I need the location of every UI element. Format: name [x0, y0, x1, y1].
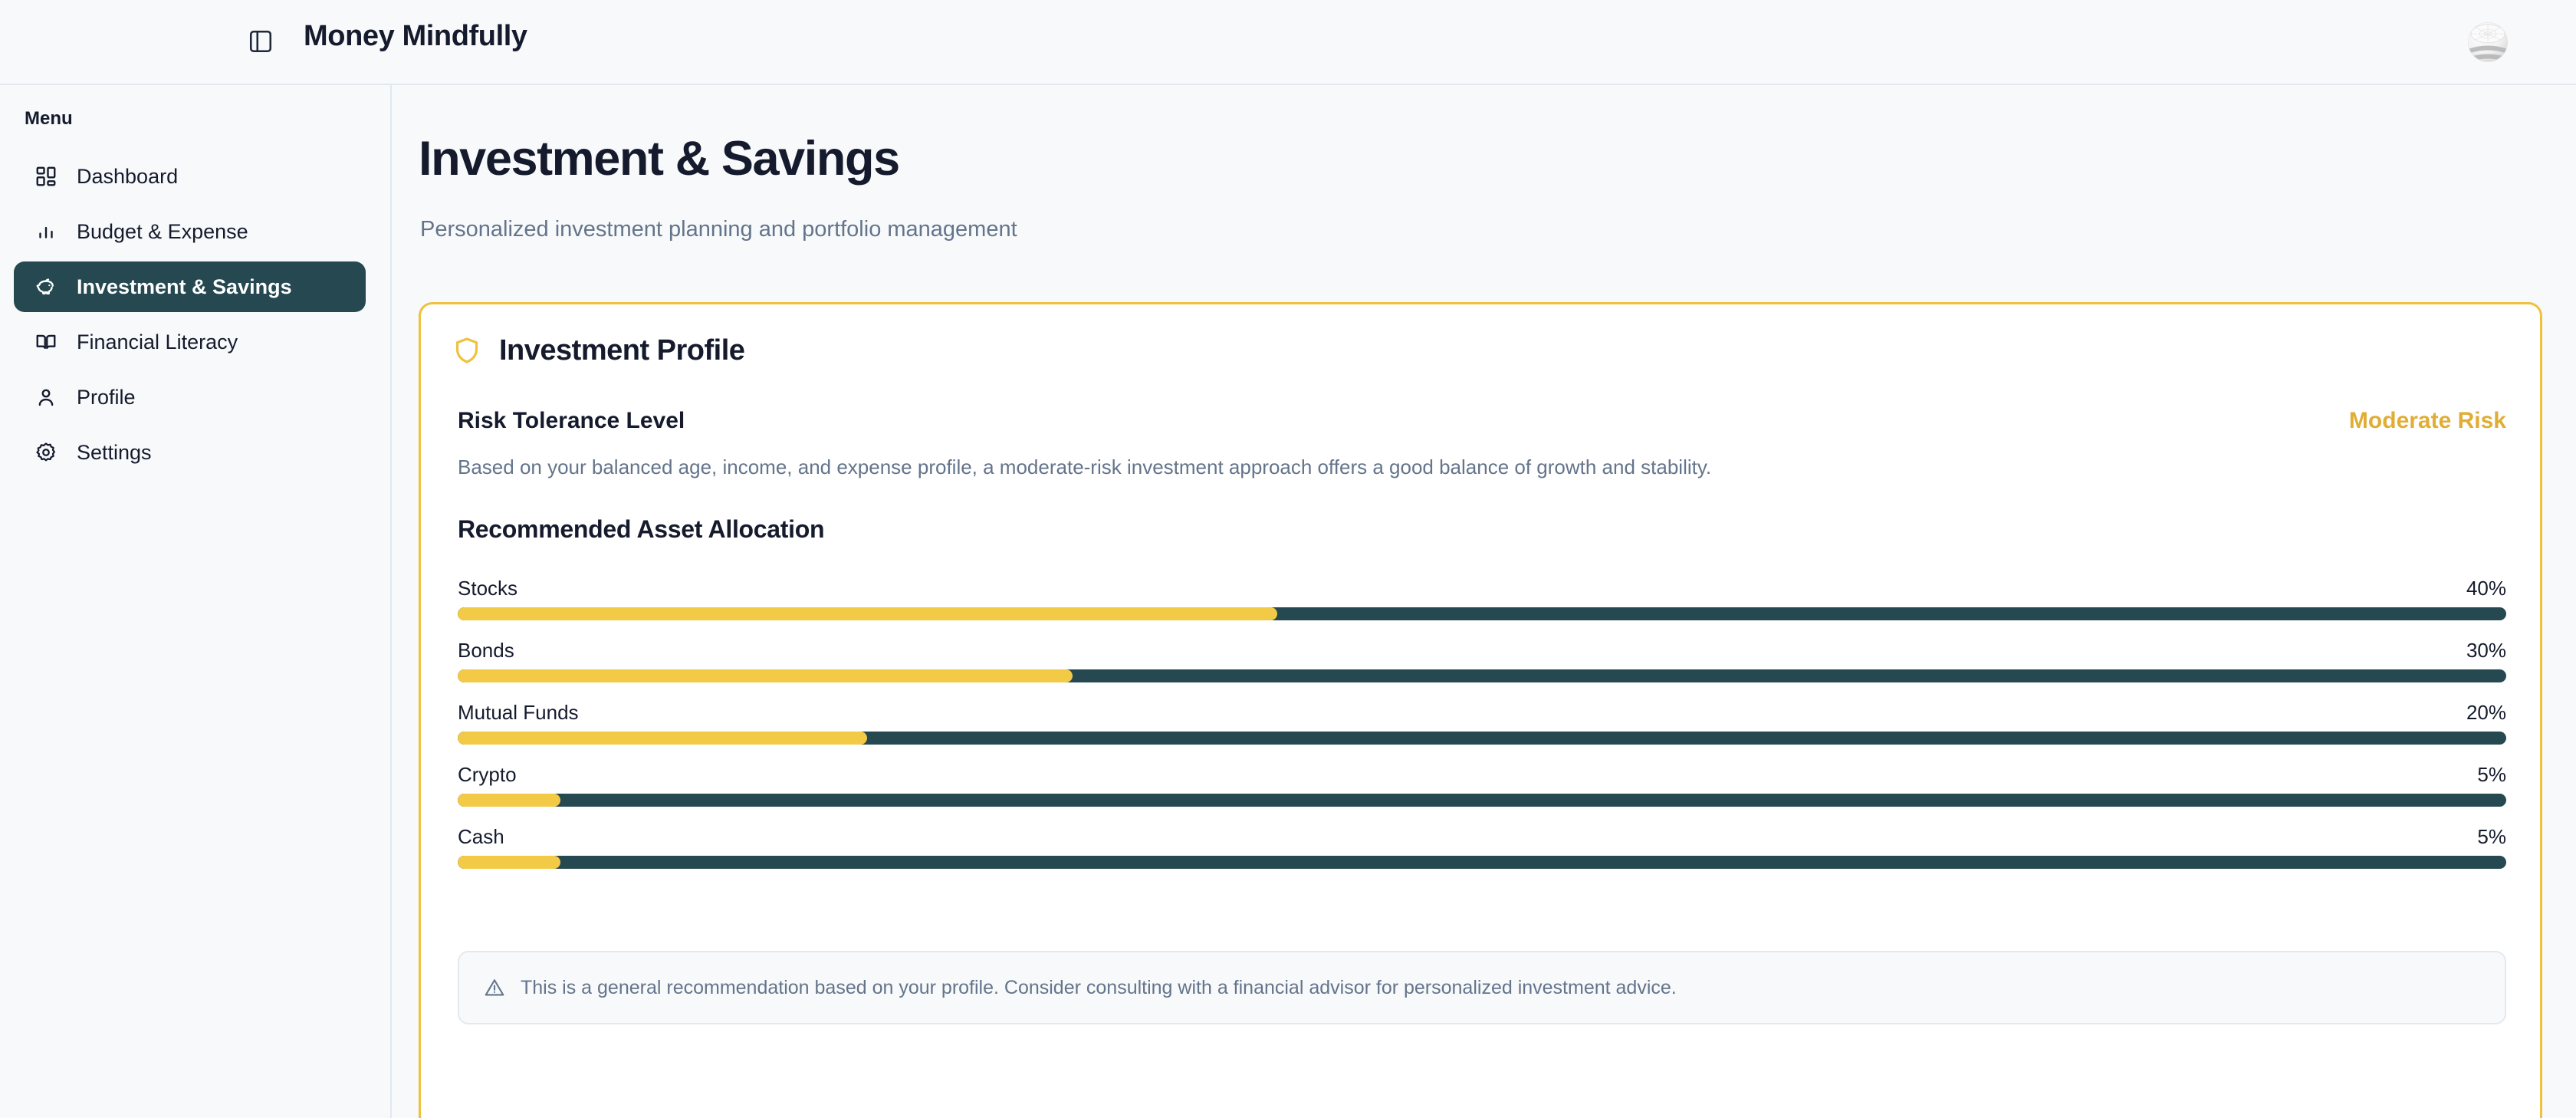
allocation-row: Crypto 5%: [458, 763, 2506, 807]
main-content: Investment & Savings Personalized invest…: [393, 85, 2576, 1118]
allocation-progress-fill: [458, 607, 1277, 620]
sidebar-toggle-button[interactable]: [244, 26, 278, 60]
sidebar-item-label: Profile: [77, 386, 136, 409]
disclaimer-text: This is a general recommendation based o…: [521, 977, 1677, 999]
allocation-row: Mutual Funds 20%: [458, 701, 2506, 745]
allocation-progress-bar[interactable]: [458, 856, 2506, 869]
allocation-name: Bonds: [458, 639, 514, 663]
user-icon: [32, 383, 60, 411]
sidebar-item-financial-literacy[interactable]: Financial Literacy: [14, 317, 366, 367]
allocation-row: Stocks 40%: [458, 577, 2506, 620]
allocation-percent: 30%: [2466, 639, 2506, 663]
allocation-name: Stocks: [458, 577, 517, 600]
sidebar-item-settings[interactable]: Settings: [14, 427, 366, 478]
sidebar: Menu Dashboard Budget & Expense: [0, 85, 392, 1118]
allocation-name: Mutual Funds: [458, 701, 579, 725]
allocation-name: Cash: [458, 825, 504, 849]
allocation-progress-fill: [458, 669, 1073, 682]
allocation-row: Cash 5%: [458, 825, 2506, 869]
sidebar-item-investment-savings[interactable]: Investment & Savings: [14, 261, 366, 312]
card-header: Investment Profile: [450, 334, 744, 367]
allocation-progress-fill: [458, 794, 560, 807]
card-title: Investment Profile: [499, 334, 744, 367]
allocation-row: Bonds 30%: [458, 639, 2506, 682]
allocation-progress-bar[interactable]: [458, 794, 2506, 807]
allocation-section-title: Recommended Asset Allocation: [458, 515, 824, 544]
gear-icon: [32, 439, 60, 466]
sidebar-item-label: Dashboard: [77, 165, 178, 189]
page-subtitle: Personalized investment planning and por…: [420, 217, 1017, 242]
avatar[interactable]: [2461, 15, 2515, 69]
sidebar-item-label: Budget & Expense: [77, 220, 248, 244]
shield-icon: [450, 334, 484, 367]
sidebar-item-profile[interactable]: Profile: [14, 372, 366, 423]
open-book-icon: [32, 328, 60, 356]
allocation-progress-bar[interactable]: [458, 607, 2506, 620]
allocation-percent: 40%: [2466, 577, 2506, 600]
app-header: Money Mindfully: [0, 0, 2576, 85]
allocation-progress-bar[interactable]: [458, 669, 2506, 682]
risk-tolerance-label: Risk Tolerance Level: [458, 408, 685, 434]
grid-icon: [32, 163, 60, 190]
risk-tolerance-row: Risk Tolerance Level Moderate Risk: [458, 408, 2506, 434]
warning-triangle-icon: [482, 975, 507, 1000]
page-title: Investment & Savings: [419, 131, 899, 186]
piggy-bank-icon: [32, 273, 60, 301]
allocation-name: Crypto: [458, 763, 517, 787]
allocation-progress-fill: [458, 856, 560, 869]
allocation-percent: 5%: [2477, 825, 2506, 849]
allocation-progress-fill: [458, 732, 867, 745]
user-avatar-image: [2461, 15, 2515, 69]
sidebar-item-label: Financial Literacy: [77, 330, 238, 354]
bar-chart-icon: [32, 218, 60, 245]
risk-level-badge: Moderate Risk: [2349, 408, 2506, 434]
investment-profile-card: Investment Profile Risk Tolerance Level …: [419, 302, 2542, 1118]
sidebar-item-label: Investment & Savings: [77, 275, 292, 299]
app-title: Money Mindfully: [304, 20, 527, 53]
sidebar-item-label: Settings: [77, 441, 152, 465]
sidebar-item-dashboard[interactable]: Dashboard: [14, 151, 366, 202]
allocation-progress-bar[interactable]: [458, 732, 2506, 745]
asset-allocation-list: Stocks 40% Bonds 30% Mutual Funds: [458, 577, 2506, 869]
disclaimer-note: This is a general recommendation based o…: [458, 951, 2506, 1024]
sidebar-item-budget-expense[interactable]: Budget & Expense: [14, 206, 366, 257]
risk-description: Based on your balanced age, income, and …: [458, 453, 2451, 481]
allocation-percent: 5%: [2477, 763, 2506, 787]
sidebar-section-label: Menu: [25, 108, 390, 130]
allocation-percent: 20%: [2466, 701, 2506, 725]
panel-left-icon: [248, 28, 274, 58]
